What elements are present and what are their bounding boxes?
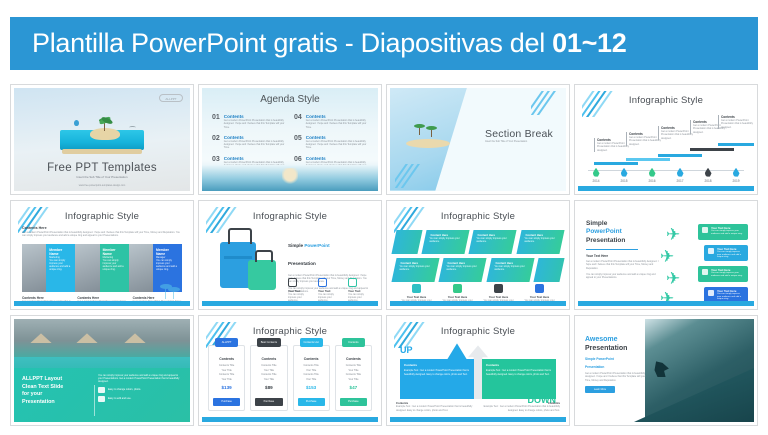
slide-thumbnail-9[interactable]: ALLPPT Layout Clean Text Slide for your … (10, 315, 194, 426)
title-line-1: ALLPPT Layout (22, 376, 62, 382)
island-illustration (60, 118, 144, 154)
down-box: Contents Example Text : Get a modern Pow… (482, 359, 556, 399)
teal-overlay: ALLPPT Layout Clean Text Slide for your … (14, 368, 190, 422)
down-box-body: Example Text : Get a modern PowerPoint P… (486, 369, 552, 375)
plan-feature: Your Title (255, 378, 282, 382)
heading-line-2: PowerPoint (586, 228, 662, 237)
body-text: Get a modern PowerPoint Presentation tha… (586, 260, 662, 270)
drop-icon (705, 168, 712, 177)
tablet-icon (318, 278, 327, 287)
title-line-2: Clean Text Slide (22, 384, 63, 390)
lead-text: Contents Here Get a modern PowerPoint Pr… (22, 226, 182, 238)
drop-icon (733, 168, 740, 177)
timeline-bar (658, 154, 702, 157)
bird-icon (129, 126, 136, 129)
overlay-list-item: Easy to change colors, photo. (98, 387, 182, 393)
plan-name: Contents (340, 357, 367, 361)
ramp-shape (634, 350, 754, 422)
lead-label: Contents Here (22, 226, 182, 230)
pricing-card[interactable]: Contents List Contents Contents Title Yo… (293, 345, 330, 411)
cabana-icon (30, 333, 52, 343)
corner-stripes-icon (531, 91, 561, 115)
heading-accent: Awesome (585, 335, 647, 344)
info-bars: Your Text Here You can simply impress yo… (698, 224, 748, 307)
timeline-point: 2015 (616, 168, 632, 183)
member-panel: Member Name Marketing You can simply imp… (46, 244, 75, 292)
body-text-2: You can simply impress your audience and… (586, 273, 662, 280)
agenda-columns: 01 Contents Get a modern PowerPoint Pres… (212, 114, 368, 171)
agenda-text: Contents Get a modern PowerPoint Present… (306, 135, 368, 150)
left-text: Simple PowerPoint Presentation Your Text… (586, 220, 662, 280)
timeline-bar (594, 162, 638, 165)
slide-thumbnail-7[interactable]: Infographic Style Content Here You can s… (386, 200, 570, 311)
drop-icon (677, 168, 684, 177)
image-icon (98, 387, 105, 393)
agenda-item: 04 Contents Get a modern PowerPoint Pres… (294, 114, 368, 129)
icon-item: Your Text You can simply impress your au… (318, 278, 340, 303)
section-text: Section Break Insert the Sub Title of Yo… (485, 128, 553, 143)
member-body: You can simply impress your audience and… (49, 259, 72, 271)
parallelogram-block: Content Here You can simply impress your… (486, 258, 534, 282)
chat-icon (702, 227, 708, 233)
timeline-bar (718, 143, 754, 146)
edit-icon (98, 396, 105, 402)
agenda-text: Contents Get a modern PowerPoint Present… (224, 114, 286, 129)
info-bar-text: Your Text Here You can simply impress yo… (711, 268, 744, 278)
agenda-column-right: 04 Contents Get a modern PowerPoint Pres… (294, 114, 368, 171)
slide-grid: ALLPPT Free PPT Templates Insert the Sub… (10, 84, 758, 426)
timeline-point: 2018 (700, 168, 716, 183)
left-text: Awesome Presentation Simple PowerPoint P… (585, 335, 647, 393)
purchase-button[interactable]: Purchase (340, 398, 367, 406)
airplane-icon: ✈ (666, 226, 688, 244)
pricing-cards: ALLPPT Contents Contents Title Your Titl… (208, 345, 372, 411)
timeline-year: 2015 (616, 179, 632, 183)
slide-subtitle: Insert the Sub Title of Your Presentatio… (485, 140, 553, 143)
agenda-body: Get a modern PowerPoint Presentation tha… (306, 140, 368, 150)
timeline-point: 2014 (588, 168, 604, 183)
parallelogram-block: Content Here You can simply impress your… (391, 258, 439, 282)
plan-body: Contents Contents Title Your Title Conte… (294, 349, 329, 398)
info-bar-body: You can simply impress your audience and… (717, 293, 744, 302)
plan-name: Contents (255, 357, 282, 361)
vertical-divider (94, 385, 95, 416)
plan-feature: Your Title (298, 378, 325, 382)
couple-silhouette (282, 168, 298, 188)
plan-body: Contents Contents Title Your Title Conte… (209, 349, 244, 398)
block-body: You can simply impress your audience. (524, 237, 557, 244)
plan-body: Contents Contents Title Your Title Conte… (336, 349, 371, 398)
row-edge-shape (533, 258, 564, 282)
divider (586, 249, 638, 250)
plan-body: Contents Contents Title Your Title Conte… (251, 349, 286, 398)
layout-title: ALLPPT Layout Clean Text Slide for your … (22, 376, 63, 406)
plan-price: $139 (213, 385, 240, 390)
skate-photo (645, 319, 754, 422)
icon-row: Your Text You can simply impress your au… (288, 278, 370, 303)
member-body: You can simply impress your audience and… (156, 259, 179, 271)
timeline-year: 2018 (700, 179, 716, 183)
slide-thumbnail-3[interactable]: Section Break Insert the Sub Title of Yo… (386, 84, 570, 195)
info-bar-text: Your Text Here You can simply impress yo… (717, 289, 744, 302)
airplane-icon: ✈ (660, 248, 682, 266)
info-bar: Your Text Here You can simply impress yo… (698, 266, 748, 282)
timeline-point: 2016 (644, 168, 660, 183)
chat-icon (708, 248, 714, 254)
timeline-year: 2017 (672, 179, 688, 183)
chart-icon (412, 284, 421, 293)
learn-more-button[interactable]: Learn More (585, 386, 615, 393)
slide-url-note: www.free-powerpoint-templates-design.com (14, 184, 190, 187)
info-bar-body: You can simply impress your audience and… (711, 230, 744, 236)
bottom-accent-bar (390, 301, 566, 306)
lead-body: Get a modern PowerPoint Presentation tha… (22, 231, 182, 238)
slide-thumbnail-2[interactable]: Agenda Style 01 Contents Get a modern Po… (198, 84, 382, 195)
skater-silhouette (653, 361, 669, 377)
heading-line-3: Presentation (586, 237, 662, 246)
info-bar-body: You can simply impress your audience and… (711, 272, 744, 278)
agenda-item: 01 Contents Get a modern PowerPoint Pres… (212, 114, 286, 129)
up-box-label: Contents (404, 363, 470, 367)
heading-line-1: Simple (586, 220, 662, 229)
heading-accent: PowerPoint (304, 243, 329, 248)
mobile-icon (535, 284, 544, 293)
corner-stripes-icon (395, 164, 425, 188)
title-line-4: Presentation (22, 399, 55, 405)
sand-mound (406, 139, 450, 148)
body-text: Get a modern PowerPoint Presentation tha… (585, 372, 647, 382)
palm-tree-icon (424, 124, 440, 136)
agenda-number: 01 (212, 114, 220, 129)
timeline-year: 2014 (588, 179, 604, 183)
member-name: Member Name (49, 248, 72, 256)
heading-main: Presentation (585, 344, 647, 353)
parallelogram-block: Content Here You can simply impress your… (421, 230, 469, 254)
row-edge-shape (391, 230, 422, 254)
parallelogram-block: Content Here You can simply impress your… (469, 230, 517, 254)
member-photo (22, 244, 46, 292)
timeline-bar (626, 158, 670, 161)
member-body: You can simply impress your audience and… (103, 259, 126, 271)
member-cards: Member Name Marketing You can simply imp… (22, 244, 182, 292)
member-photo (129, 244, 153, 292)
timeline-year: 2016 (644, 179, 660, 183)
pricing-card[interactable]: ALLPPT Contents Contents Title Your Titl… (208, 345, 245, 411)
timeline-bar (690, 148, 734, 151)
caption-right: Contents Example Text : Get a modern Pow… (479, 401, 560, 412)
cabana-icon (124, 333, 146, 343)
block-body: You can simply impress your audience. (494, 265, 527, 272)
header-banner: Plantilla PowerPoint gratis - Diapositiv… (10, 17, 758, 70)
agenda-column-left: 01 Contents Get a modern PowerPoint Pres… (212, 114, 286, 171)
bottom-accent-bar (578, 186, 754, 191)
agenda-number: 05 (294, 135, 302, 150)
member-name: Member Name (103, 248, 126, 256)
timeline-point: 2019 (728, 168, 744, 183)
up-box: Contents Example Text : Get a modern Pow… (400, 359, 474, 399)
balloon-icon (74, 120, 79, 126)
slide-thumbnail-6[interactable]: Infographic Style Simple PowerPoint Pres… (198, 200, 382, 311)
member-name: Member Name (156, 248, 179, 256)
plan-price: $47 (340, 385, 367, 390)
bottom-accent-bar (578, 301, 754, 306)
agenda-text: Contents Get a modern PowerPoint Present… (306, 114, 368, 129)
monitor-icon (288, 278, 297, 287)
plan-name: Contents (213, 357, 240, 361)
bottom-accent-bar (202, 417, 378, 422)
page-title-text: Plantilla PowerPoint gratis - Diapositiv… (32, 28, 552, 58)
bottom-accent-bar (14, 301, 190, 306)
slide-subtitle: Insert the Sub Title of Your Presentatio… (14, 176, 190, 180)
overlay-body: You can simply impress your audience and… (98, 374, 182, 384)
overlay-right: You can simply impress your audience and… (98, 374, 182, 402)
slide-thumbnail-12[interactable]: Awesome Presentation Simple PowerPoint P… (574, 315, 758, 426)
caption-left: Contents Example Text : Get a modern Pow… (396, 401, 477, 412)
up-label: UP (400, 345, 413, 355)
pricing-card[interactable]: Best Contents Contents Contents Title Yo… (250, 345, 287, 411)
heading-part-1: Simple (288, 243, 304, 248)
up-box-body: Example Text : Get a modern PowerPoint P… (404, 369, 470, 375)
slide-title: Free PPT Templates (14, 162, 190, 174)
suitcase-small-icon (248, 260, 276, 290)
slide-thumbnail-11[interactable]: Infographic Style UP Contents Example Te… (386, 315, 570, 426)
bottom-accent-bar (390, 417, 566, 422)
drop-icon (649, 168, 656, 177)
block-body: You can simply impress your audience. (477, 237, 510, 244)
purchase-button[interactable]: Purchase (213, 398, 240, 406)
parallelogram-block: Content Here You can simply impress your… (516, 230, 564, 254)
plan-tab: Best Contents (257, 338, 280, 347)
sub-line-2: Presentation (585, 365, 647, 369)
palm-tree-icon (159, 281, 185, 299)
agenda-text: Contents Get a modern PowerPoint Present… (224, 135, 286, 150)
palm-tree-icon (96, 116, 114, 132)
sub-label: Your Text Here (586, 254, 662, 258)
phone-icon (348, 278, 357, 287)
member-photo (75, 244, 99, 292)
timeline-card-body: Get a modern PowerPoint Presentation tha… (721, 119, 754, 129)
parallelogram-row: Content Here You can simply impress your… (394, 230, 562, 254)
camera-icon (494, 284, 503, 293)
overlay-list-text: Easy to edit and use. (108, 397, 131, 400)
page-title-range: 01~12 (552, 28, 626, 58)
plan-price: $153 (298, 385, 325, 390)
airplane-icon: ✈ (666, 270, 688, 288)
agenda-item: 02 Contents Get a modern PowerPoint Pres… (212, 135, 286, 150)
parallelogram-row: Content Here You can simply impress your… (394, 258, 562, 282)
up-box-text: Contents Example Text : Get a modern Pow… (400, 359, 474, 379)
plan-tab: ALLPPT (215, 338, 238, 347)
drop-icon (593, 168, 600, 177)
agenda-body: Get a modern PowerPoint Presentation tha… (306, 119, 368, 129)
drop-icon (621, 168, 628, 177)
timeline-card: Contents Get a modern PowerPoint Present… (718, 115, 754, 129)
caption-left-body: Example Text : Get a modern PowerPoint P… (396, 405, 477, 412)
info-bar-text: Your Text Here You can simply impress yo… (711, 226, 744, 236)
info-bar-text: Your Text Here You can simply impress yo… (717, 247, 744, 260)
down-box-label: Contents (486, 363, 552, 367)
page-title: Plantilla PowerPoint gratis - Diapositiv… (10, 28, 626, 59)
agenda-number: 02 (212, 135, 220, 150)
down-box-text: Contents Example Text : Get a modern Pow… (482, 359, 556, 379)
tag-icon (702, 269, 708, 275)
parallelogram-rows: Content Here You can simply impress your… (394, 230, 562, 286)
purchase-button[interactable]: Purchase (255, 398, 282, 406)
agenda-item: 05 Contents Get a modern PowerPoint Pres… (294, 135, 368, 150)
block-body: You can simply impress your audience. (429, 237, 462, 244)
overlay-list-item: Easy to edit and use. (98, 396, 182, 402)
cabana-icon (76, 333, 98, 343)
heading: Simple PowerPoint Presentation (288, 234, 370, 270)
slide-thumbnail-4[interactable]: Infographic Style Contents Get a modern … (574, 84, 758, 195)
book-icon (708, 290, 714, 296)
slide-thumbnail-8[interactable]: Simple PowerPoint Presentation Your Text… (574, 200, 758, 311)
pricing-card[interactable]: Contents Contents Contents Title Your Ti… (335, 345, 372, 411)
icon-item: Your Text You can simply impress your au… (288, 278, 310, 303)
slide-thumbnail-1[interactable]: ALLPPT Free PPT Templates Insert the Sub… (10, 84, 194, 195)
screenshot-root: Plantilla PowerPoint gratis - Diapositiv… (0, 0, 768, 435)
plan-price: $89 (255, 385, 282, 390)
member-panel: Member Name Marketing You can simply imp… (100, 244, 129, 292)
timeline-point: 2017 (672, 168, 688, 183)
slide-title: Agenda Style (202, 94, 378, 105)
overlay-list-text: Easy to change colors, photo. (108, 388, 141, 391)
heading-part-2: Presentation (288, 261, 316, 266)
info-bar: Your Text Here You can simply impress yo… (704, 245, 748, 261)
beach-background (202, 165, 378, 191)
agenda-number: 04 (294, 114, 302, 129)
icon-item: Your Text You can simply impress your au… (348, 278, 370, 303)
info-bar: Your Text Here You can simply impress yo… (704, 287, 748, 303)
info-bar: Your Text Here You can simply impress yo… (698, 224, 748, 240)
plan-feature: Your Title (213, 378, 240, 382)
timeline-points: 2014 2015 2016 2017 2018 2019 (588, 168, 744, 183)
allppt-logo: ALLPPT (159, 94, 183, 102)
plan-name: Contents (298, 357, 325, 361)
plan-tab: Contents List (300, 338, 323, 347)
island-illustration (406, 122, 450, 148)
info-bar-body: You can simply impress your audience and… (717, 251, 744, 260)
agenda-body: Get a modern PowerPoint Presentation tha… (224, 140, 286, 150)
bottom-accent-bar (202, 301, 378, 306)
slide-thumbnail-5[interactable]: Infographic Style Contents Here Get a mo… (10, 200, 194, 311)
parallelogram-block: Content Here You can simply impress your… (439, 258, 487, 282)
block-body: You can simply impress your audience. (399, 265, 432, 272)
sub-line-1: Simple PowerPoint (585, 357, 647, 361)
slide-thumbnail-10[interactable]: Infographic Style ALLPPT Contents Conten… (198, 315, 382, 426)
airplane-icons: ✈ ✈ ✈ ✈ (664, 224, 698, 306)
slide-title: Section Break (485, 128, 553, 140)
timeline-year: 2019 (728, 179, 744, 183)
document-icon (453, 284, 462, 293)
block-body: You can simply impress your audience. (447, 265, 480, 272)
plan-tab: Contents (342, 338, 365, 347)
plan-feature: Your Title (340, 378, 367, 382)
title-line-3: for your (22, 391, 42, 397)
timeline-cards: Contents Get a modern PowerPoint Present… (588, 112, 744, 166)
purchase-button[interactable]: Purchase (298, 398, 325, 406)
caption-right-body: Example Text : Get a modern PowerPoint P… (479, 405, 560, 412)
agenda-body: Get a modern PowerPoint Presentation tha… (224, 119, 286, 129)
